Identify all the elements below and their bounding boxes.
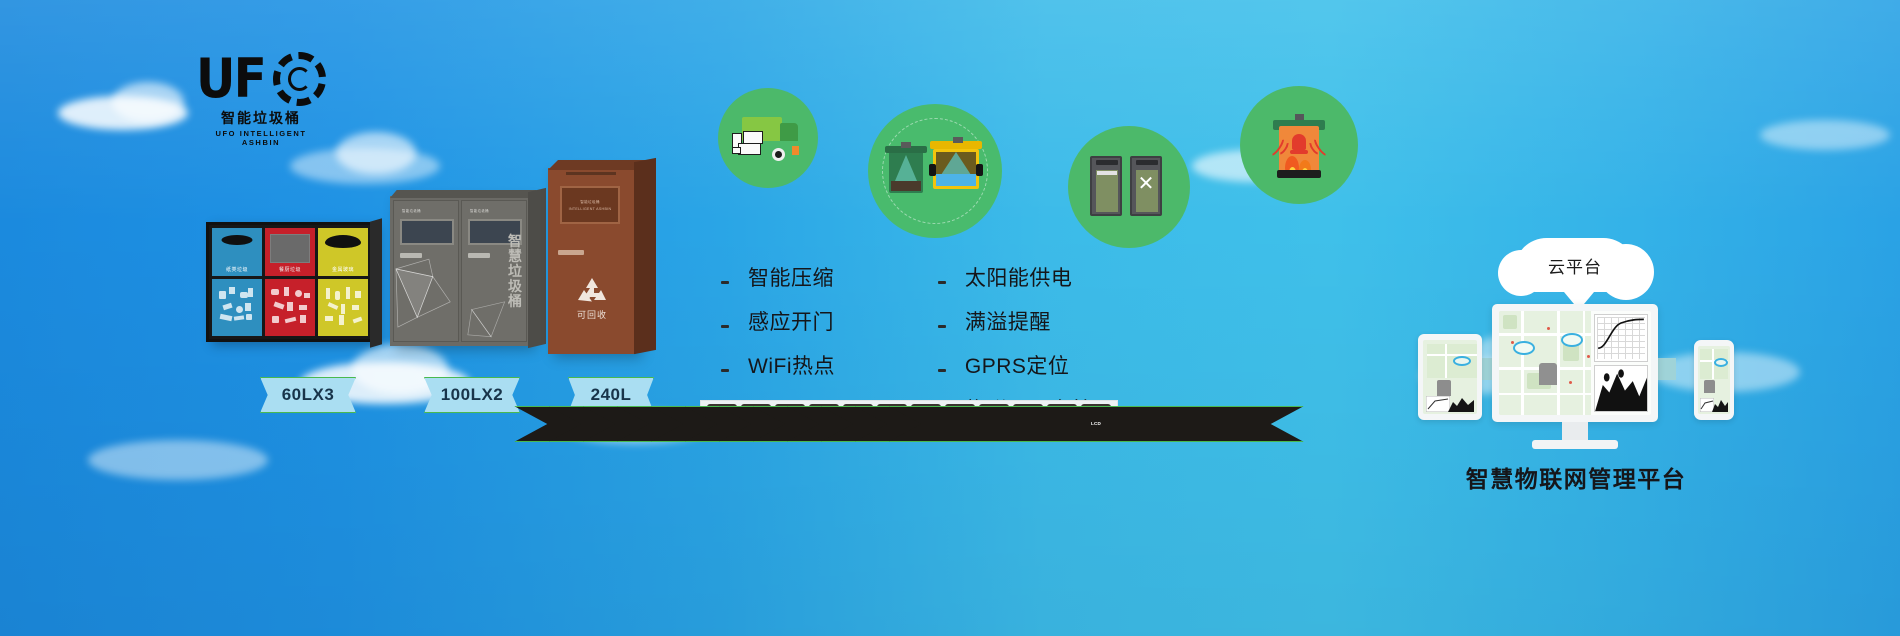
info-panel <box>270 234 310 263</box>
feature-circle-fleet-collection <box>718 88 818 188</box>
feature-label: 满溢提醒 <box>965 306 1051 336</box>
compartment-label: 纸类垃圾 <box>226 266 248 273</box>
capacity-badge-60lx3: 60LX3 <box>260 377 356 413</box>
phone-screen <box>1698 346 1730 414</box>
bin-compartment-paper: 纸类垃圾 <box>212 228 262 336</box>
promo-banner: UF 智能垃圾桶 UFO INTELLIGENT ASHBIN 纸类垃圾 <box>0 0 1900 636</box>
logo-wordmark: UF <box>196 54 265 104</box>
waste-pictogram-group <box>265 279 315 336</box>
feature-circle-fill-level-sensing <box>868 104 1002 238</box>
monitor-icon <box>1492 304 1658 422</box>
bin-compartment-kitchen: 餐厨垃圾 <box>265 228 315 336</box>
cloud-decoration <box>88 440 268 480</box>
bin-side-panel <box>634 158 656 354</box>
bin-top-panel <box>390 190 537 198</box>
ufo-ring-icon <box>273 52 326 106</box>
spec-chip-lcd: LCD <box>1081 404 1111 436</box>
feature-item: 满溢提醒 <box>933 306 1116 336</box>
garbage-truck-icon <box>732 113 804 163</box>
spec-icon-strip: SOLAR AC HYBRID MOUNT HANDLE <box>700 400 1118 440</box>
bin-door-left: 智能垃圾桶 <box>393 200 459 342</box>
dashboard-screen <box>1499 311 1651 415</box>
bin-top-panel <box>548 160 646 170</box>
polygon-graphic <box>394 201 458 339</box>
cloud-decoration <box>336 132 416 174</box>
screen-line-2: INTELLIGENT ASHBIN <box>569 207 612 211</box>
display-screen: 智能垃圾桶 INTELLIGENT ASHBIN <box>560 186 620 224</box>
compartment-label: 金属玻璃 <box>332 266 354 273</box>
bin-sensor-icon <box>889 143 981 199</box>
feature-item: 智能压缩 <box>716 262 855 292</box>
spec-chip-label: LCD <box>888 406 1304 442</box>
bin-lid <box>566 172 616 175</box>
capacity-badge-100lx2: 100LX2 <box>424 377 520 413</box>
bin-side-panel <box>528 188 546 348</box>
feature-circle-fire-alarm <box>1240 86 1358 204</box>
feature-item: 太阳能供电 <box>933 262 1116 292</box>
map-panel <box>1499 311 1591 415</box>
platform-caption: 智慧物联网管理平台 <box>1390 460 1762 494</box>
feature-label: GPRS定位 <box>965 350 1070 380</box>
waste-pictogram-group <box>318 279 368 336</box>
product-brown-bin: 智能垃圾桶 INTELLIGENT ASHBIN 可回收 <box>548 168 658 363</box>
monitor-icon <box>933 270 951 284</box>
cloud-platform-label: 云平台 <box>1548 253 1602 278</box>
fire-alarm-bin-icon <box>1271 112 1327 178</box>
monitor-icon <box>716 358 734 372</box>
iot-platform-illustration: 云平台 <box>1410 238 1740 488</box>
monitor-stand <box>1562 422 1588 442</box>
tablet-screen <box>1423 340 1477 414</box>
brand-logo: UF 智能垃圾桶 UFO INTELLIGENT ASHBIN <box>196 52 326 147</box>
phone-icon <box>1694 340 1734 420</box>
bin-side-panel <box>370 218 382 347</box>
cloud-decoration <box>112 82 184 122</box>
waste-slot-icon <box>222 235 253 245</box>
screen-line-1: 智能垃圾桶 <box>580 200 599 205</box>
analytics-panel <box>1591 311 1651 415</box>
feature-label: 智能压缩 <box>748 262 834 292</box>
waste-slot-icon <box>325 235 361 248</box>
monitor-base <box>1532 440 1618 449</box>
feature-item: 感应开门 <box>716 306 855 336</box>
monitor-icon <box>933 358 951 372</box>
tablet-icon <box>1418 334 1482 420</box>
logo-en-name: UFO INTELLIGENT ASHBIN <box>196 129 326 147</box>
recycle-label: 可回收 <box>548 308 636 321</box>
feature-circle-waste-compression: ✕ <box>1068 126 1190 248</box>
monitor-icon <box>716 270 734 284</box>
compaction-bins-icon: ✕ <box>1090 156 1168 218</box>
product-double-bin: 智能垃圾桶 智能垃圾桶 <box>390 196 542 354</box>
area-chart <box>1594 365 1648 413</box>
feature-label: 太阳能供电 <box>965 262 1073 292</box>
monitor-icon <box>933 314 951 328</box>
product-triple-bin: 纸类垃圾 <box>206 222 384 352</box>
waste-pictogram-group <box>212 279 262 336</box>
bin-compartment-metal-glass: 金属玻璃 <box>318 228 368 336</box>
feature-item: GPRS定位 <box>933 350 1116 380</box>
logo-cn-name: 智能垃圾桶 <box>196 108 326 128</box>
feature-item: WiFi热点 <box>716 350 855 380</box>
bin-vertical-text: 智慧垃圾桶 <box>508 234 524 309</box>
line-chart <box>1594 314 1648 362</box>
feature-label: WiFi热点 <box>748 350 835 380</box>
handle-icon <box>558 250 584 255</box>
compartment-label: 餐厨垃圾 <box>279 266 301 273</box>
recycle-icon <box>575 276 609 306</box>
cloud-decoration <box>1760 120 1890 150</box>
feature-label: 感应开门 <box>748 306 834 336</box>
monitor-icon <box>716 314 734 328</box>
